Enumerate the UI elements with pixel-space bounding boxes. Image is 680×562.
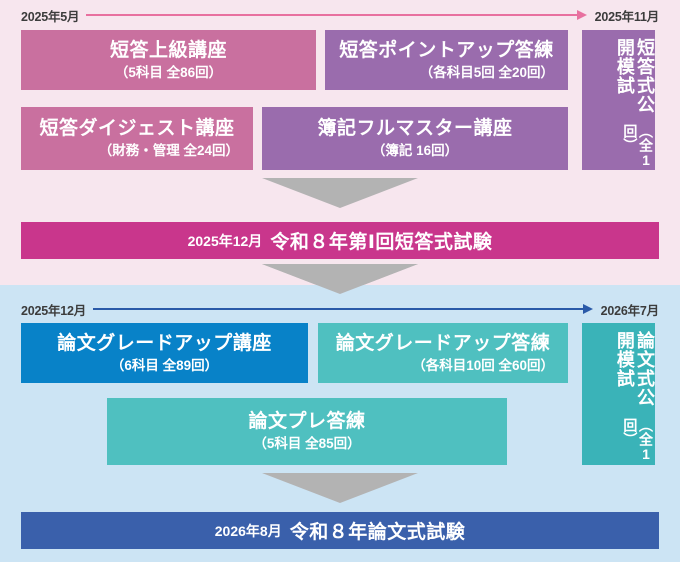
exam-date: 2026年8月 bbox=[215, 521, 282, 541]
course-subtitle: （簿記 16回） bbox=[372, 143, 458, 159]
course-title: 論文プレ答練 bbox=[248, 411, 365, 433]
mock-exam-subtitle: （全1回） bbox=[622, 124, 653, 170]
course-box-tantou-advanced[interactable]: 短答上級講座 （5科目 全86回） bbox=[21, 30, 316, 90]
flow-arrow-down-icon bbox=[262, 178, 418, 208]
mock-exam-box-tantou[interactable]: 短答式公開模試 （全1回） bbox=[582, 30, 655, 170]
mock-exam-title: 短答式公開模試 bbox=[615, 38, 655, 124]
tantou-timeline-end-label: 2025年11月 bbox=[595, 6, 659, 25]
course-box-ronbun-pre-drill[interactable]: 論文プレ答練 （5科目 全85回） bbox=[107, 398, 507, 465]
course-box-tantou-digest[interactable]: 短答ダイジェスト講座 （財務・管理 全24回） bbox=[21, 107, 253, 170]
ronbun-timeline-arrow bbox=[93, 308, 593, 310]
timeline-bar bbox=[93, 308, 584, 310]
curriculum-timeline-diagram: 2025年5月 2025年11月 短答上級講座 （5科目 全86回） 短答ポイン… bbox=[0, 0, 680, 562]
flow-arrow-down-icon bbox=[262, 473, 418, 503]
timeline-bar bbox=[86, 14, 577, 16]
course-subtitle: （5科目 全85回） bbox=[253, 436, 360, 452]
arrow-head-icon bbox=[577, 10, 587, 20]
arrow-head-icon bbox=[583, 304, 593, 314]
course-box-tantou-pointup[interactable]: 短答ポイントアップ答練 （各科目5回 全20回） bbox=[325, 30, 568, 90]
mock-exam-subtitle: （全1回） bbox=[622, 418, 653, 465]
tantou-timeline: 2025年5月 2025年11月 bbox=[21, 6, 659, 24]
course-title: 簿記フルマスター講座 bbox=[317, 118, 512, 140]
course-box-boki-fullmaster[interactable]: 簿記フルマスター講座 （簿記 16回） bbox=[262, 107, 568, 170]
ronbun-timeline-end-label: 2026年7月 bbox=[601, 300, 659, 319]
mock-exam-box-ronbun[interactable]: 論文式公開模試 （全1回） bbox=[582, 323, 655, 465]
course-title: 短答上級講座 bbox=[110, 40, 227, 62]
mock-exam-title: 論文式公開模試 bbox=[615, 331, 655, 418]
course-title: 短答ダイジェスト講座 bbox=[39, 118, 234, 140]
tantou-timeline-start-label: 2025年5月 bbox=[21, 6, 79, 25]
course-subtitle: （財務・管理 全24回） bbox=[99, 143, 239, 159]
exam-banner-tantou: 2025年12月 令和８年第Ⅰ回短答式試験 bbox=[21, 222, 659, 259]
course-title: 短答ポイントアップ答練 bbox=[339, 40, 554, 62]
course-subtitle: （各科目5回 全20回） bbox=[420, 65, 554, 81]
exam-name: 令和８年第Ⅰ回短答式試験 bbox=[270, 227, 492, 254]
course-title: 論文グレードアップ答練 bbox=[336, 333, 551, 355]
course-subtitle: （各科目10回 全60回） bbox=[412, 358, 554, 374]
course-subtitle: （6科目 全89回） bbox=[111, 358, 218, 374]
exam-date: 2025年12月 bbox=[188, 231, 263, 251]
exam-name: 令和８年論文式試験 bbox=[290, 517, 466, 544]
flow-arrow-down-icon bbox=[262, 264, 418, 294]
course-box-ronbun-gradeup-lecture[interactable]: 論文グレードアップ講座 （6科目 全89回） bbox=[21, 323, 308, 383]
course-box-ronbun-gradeup-drill[interactable]: 論文グレードアップ答練 （各科目10回 全60回） bbox=[318, 323, 568, 383]
ronbun-timeline: 2025年12月 2026年7月 bbox=[21, 300, 659, 318]
ronbun-timeline-start-label: 2025年12月 bbox=[21, 300, 86, 319]
course-subtitle: （5科目 全86回） bbox=[115, 65, 222, 81]
course-title: 論文グレードアップ講座 bbox=[57, 333, 272, 355]
tantou-timeline-arrow bbox=[86, 14, 586, 16]
exam-banner-ronbun: 2026年8月 令和８年論文式試験 bbox=[21, 512, 659, 549]
